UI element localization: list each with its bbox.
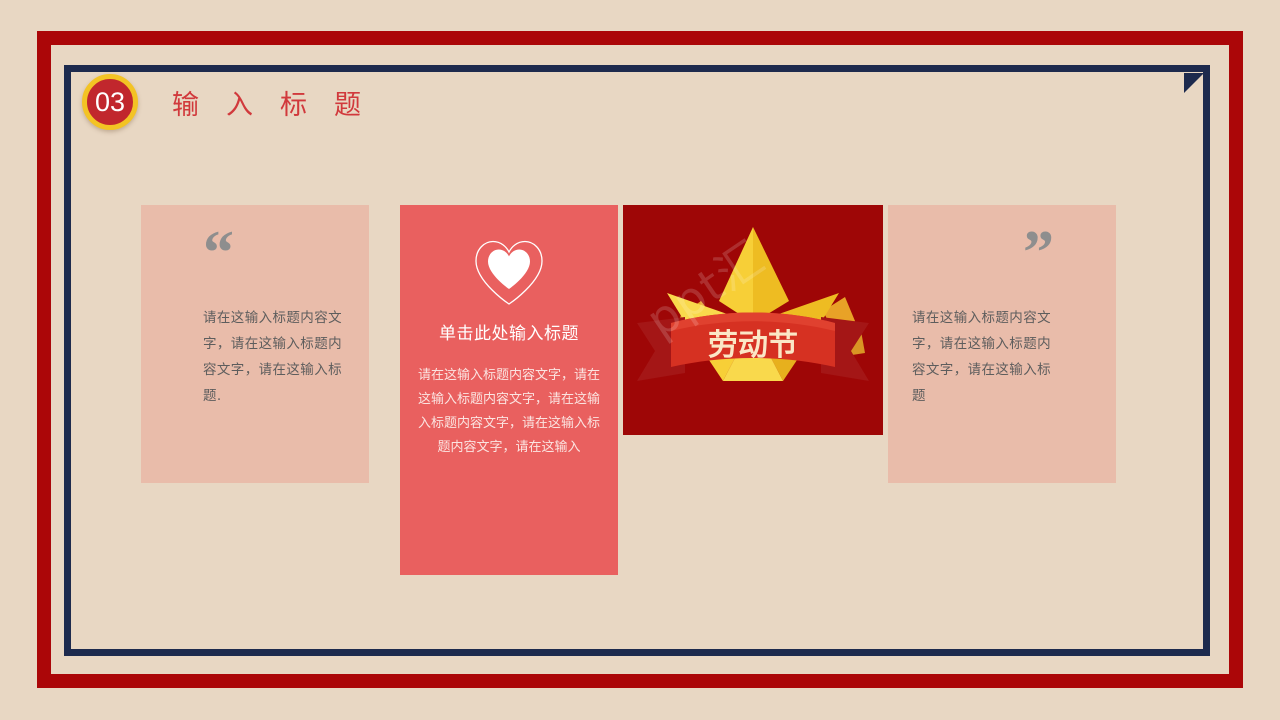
section-number-badge: 03 [82,74,138,130]
quote-card-left: “ 请在这输入标题内容文字，请在这输入标题内容文字，请在这输入标题. [141,205,369,483]
close-quote-icon: ” [912,231,1054,287]
ribbon-text-label: 劳动节 [708,328,798,363]
feature-card-title: 单击此处输入标题 [416,319,602,344]
corner-triangle-decoration [1184,73,1204,93]
quote-left-body-text: 请在这输入标题内容文字，请在这输入标题内容文字，请在这输入标题. [203,305,345,409]
feature-card-body-text: 请在这输入标题内容文字，请在这输入标题内容文字，请在这输入标题内容文字，请在这输… [416,364,602,460]
heart-icon [416,231,602,315]
quote-card-right: ” 请在这输入标题内容文字，请在这输入标题内容文字，请在这输入标题 [888,205,1116,483]
section-number-label: 03 [95,89,125,116]
illustration-card: 劳动节 ppt汇 [623,205,883,435]
slide-canvas: 03 输入标题 “ 请在这输入标题内容文字，请在这输入标题内容文字，请在这输入标… [0,0,1280,720]
page-title: 输入标题 [172,83,388,122]
open-quote-icon: “ [203,231,345,287]
feature-card-center: 单击此处输入标题 请在这输入标题内容文字，请在这输入标题内容文字，请在这输入标题… [400,205,618,575]
slide-header: 03 输入标题 [82,74,388,130]
quote-right-body-text: 请在这输入标题内容文字，请在这输入标题内容文字，请在这输入标题 [912,305,1054,409]
labour-day-illustration: 劳动节 [623,205,883,435]
